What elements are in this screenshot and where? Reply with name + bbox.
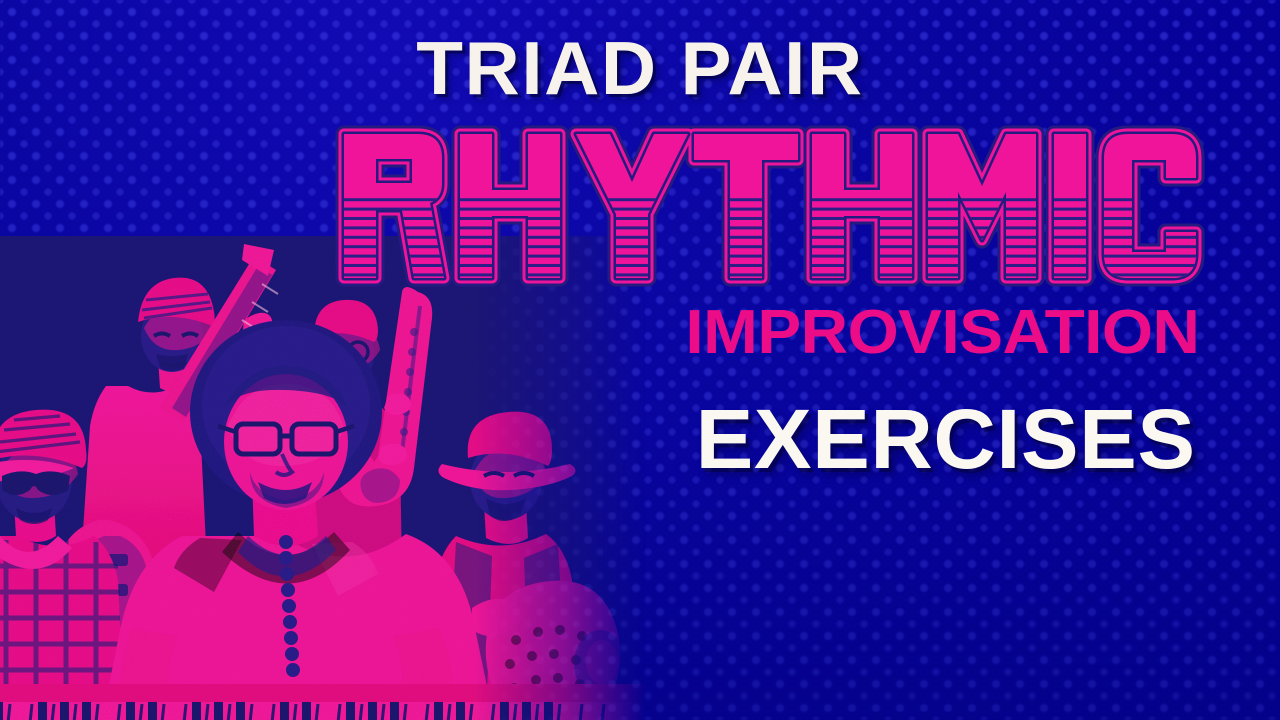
thumbnail-canvas: TRIAD PAIR (0, 0, 1280, 720)
electric-keyboard (0, 684, 646, 720)
band-photo-collage (0, 236, 646, 720)
